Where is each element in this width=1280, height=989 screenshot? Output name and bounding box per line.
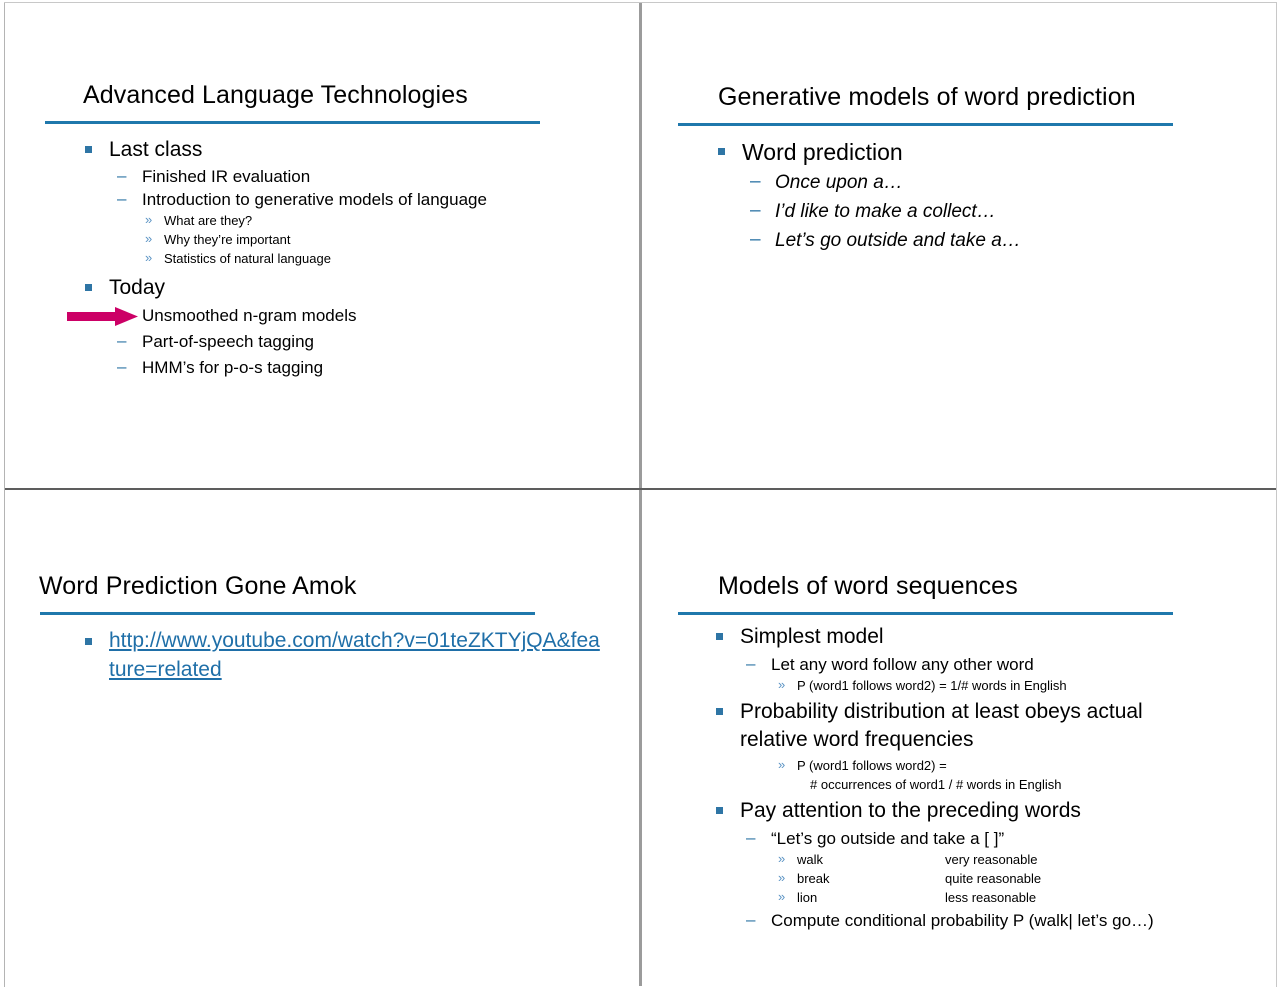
dash-bullet-icon: – [117, 164, 126, 187]
bullet-introduction-generative-models: – Introduction to generative models of l… [117, 188, 640, 211]
angle-bullet-icon: » [778, 868, 785, 887]
angle-bullet-icon: » [145, 248, 152, 267]
bullet-text: P (word1 follows word2) = [797, 758, 947, 773]
square-bullet-icon [85, 284, 92, 291]
slide-3-title-rule [40, 612, 535, 615]
bullet-text: Simplest model [740, 623, 884, 651]
bullet-lets-go-outside-take-a-blank: – “Let’s go outside and take a [ ]” [746, 827, 1276, 850]
slide-word-prediction-gone-amok[interactable]: Word Prediction Gone Amok http://www.you… [5, 491, 640, 986]
slide-2-body: Word prediction – Once upon a… – I’d lik… [642, 137, 1276, 254]
rating-cell: quite reasonable [945, 869, 1041, 888]
bullet-word-prediction: Word prediction [716, 137, 1276, 167]
bullet-pay-attention-preceding-words: Pay attention to the preceding words [714, 797, 1276, 825]
angle-bullet-icon: » [145, 229, 152, 248]
slide-1-title-rule [45, 121, 540, 124]
square-bullet-icon [716, 708, 723, 715]
square-bullet-icon [716, 807, 723, 814]
slide-generative-models-of-word-prediction[interactable]: Generative models of word prediction Wor… [642, 3, 1276, 489]
bullet-text: Part-of-speech tagging [142, 330, 314, 353]
bullet-text-group: lion less reasonable [797, 888, 1036, 907]
dash-bullet-icon: – [117, 187, 126, 210]
bullet-walk-very-reasonable: » walk very reasonable [778, 850, 1276, 869]
bullet-probability-distribution-obeys-frequencies: Probability distribution at least obeys … [714, 698, 1276, 754]
slide-grid-horizontal-divider [5, 488, 1276, 490]
word-cell: break [797, 869, 945, 888]
slide-4-body: Simplest model – Let any word follow any… [642, 623, 1276, 932]
angle-bullet-icon: » [778, 887, 785, 906]
bullet-compute-conditional-probability: – Compute conditional probability P (wal… [746, 909, 1276, 932]
angle-bullet-icon: » [145, 210, 152, 229]
bullet-text-group: P (word1 follows word2) = # occurrences … [797, 756, 1061, 794]
bullet-unsmoothed-n-gram-models: Unsmoothed n-gram models [117, 304, 640, 327]
pointer-arrow-icon [67, 307, 139, 326]
dash-bullet-icon: – [746, 826, 755, 849]
bullet-text: “Let’s go outside and take a [ ]” [771, 827, 1004, 850]
bullet-id-like-to-make-a-collect: – I’d like to make a collect… [750, 199, 1276, 225]
bullet-finished-ir-evaluation: – Finished IR evaluation [117, 165, 640, 188]
rating-cell: very reasonable [945, 850, 1038, 869]
dash-bullet-icon: – [746, 908, 755, 931]
bullet-text: Probability distribution at least obeys … [740, 698, 1170, 754]
bullet-text: P (word1 follows word2) = 1/# words in E… [797, 676, 1067, 695]
slide-grid-vertical-divider [639, 3, 642, 986]
bullet-what-are-they: » What are they? [145, 211, 640, 230]
bullet-text-continuation: # occurrences of word1 / # words in Engl… [797, 775, 1061, 794]
word-cell: walk [797, 850, 945, 869]
bullet-today: Today [83, 274, 640, 301]
bullet-text: Unsmoothed n-gram models [142, 304, 356, 327]
bullet-text: Why they’re important [164, 230, 290, 249]
dash-bullet-icon: – [750, 169, 761, 195]
dash-bullet-icon: – [117, 329, 126, 352]
bullet-let-any-word-follow: – Let any word follow any other word [746, 653, 1276, 676]
bullet-lets-go-outside-and-take-a: – Let’s go outside and take a… [750, 228, 1276, 254]
bullet-p-word1-follows-word2-uniform: » P (word1 follows word2) = 1/# words in… [778, 676, 1276, 695]
bullet-break-quite-reasonable: » break quite reasonable [778, 869, 1276, 888]
word-cell: lion [797, 888, 945, 907]
dash-bullet-icon: – [750, 227, 761, 253]
bullet-text: Last class [109, 136, 202, 163]
rating-cell: less reasonable [945, 888, 1036, 907]
bullet-text: Once upon a… [775, 170, 903, 196]
bullet-text: What are they? [164, 211, 252, 230]
slide-1-title: Advanced Language Technologies [83, 81, 468, 110]
dash-bullet-icon: – [750, 198, 761, 224]
slide-4-title: Models of word sequences [718, 572, 1018, 601]
bullet-once-upon-a: – Once upon a… [750, 170, 1276, 196]
bullet-text-group: walk very reasonable [797, 850, 1038, 869]
bullet-simplest-model: Simplest model [714, 623, 1276, 651]
handout-page: Advanced Language Technologies Last clas… [0, 0, 1280, 989]
bullet-text: I’d like to make a collect… [775, 199, 996, 225]
slide-3-body: http://www.youtube.com/watch?v=01teZKTYj… [5, 626, 640, 686]
slide-2-title: Generative models of word prediction [718, 83, 1136, 112]
slide-2-title-rule [678, 123, 1173, 126]
slide-advanced-language-technologies[interactable]: Advanced Language Technologies Last clas… [5, 3, 640, 489]
angle-bullet-icon: » [778, 755, 785, 774]
page-frame-right-rule [1276, 2, 1277, 987]
square-bullet-icon [716, 633, 723, 640]
bullet-p-word1-follows-word2-relative: » P (word1 follows word2) = # occurrence… [778, 756, 1276, 794]
bullet-text-group: break quite reasonable [797, 869, 1041, 888]
slide-4-title-rule [678, 612, 1173, 615]
bullet-lion-less-reasonable: » lion less reasonable [778, 888, 1276, 907]
bullet-text: Compute conditional probability P (walk|… [771, 909, 1154, 932]
bullet-text: Today [109, 274, 165, 301]
bullet-text: Let’s go outside and take a… [775, 228, 1021, 254]
angle-bullet-icon: » [778, 675, 785, 694]
angle-bullet-icon: » [778, 849, 785, 868]
bullet-hmms-for-pos-tagging: – HMM’s for p-o-s tagging [117, 356, 640, 379]
bullet-text: Finished IR evaluation [142, 165, 310, 188]
slide-3-title: Word Prediction Gone Amok [39, 572, 356, 601]
bullet-text: Statistics of natural language [164, 249, 331, 268]
bullet-part-of-speech-tagging: – Part-of-speech tagging [117, 330, 640, 353]
bullet-text: Let any word follow any other word [771, 653, 1034, 676]
bullet-statistics-natural-language: » Statistics of natural language [145, 249, 640, 268]
slide-1-body: Last class – Finished IR evaluation – In… [5, 136, 640, 379]
bullet-text: Word prediction [742, 137, 903, 167]
slide-models-of-word-sequences[interactable]: Models of word sequences Simplest model … [642, 491, 1276, 986]
bullet-why-theyre-important: » Why they’re important [145, 230, 640, 249]
square-bullet-icon [85, 638, 92, 645]
bullet-last-class: Last class [83, 136, 640, 163]
square-bullet-icon [718, 148, 725, 155]
bullet-youtube-link-row: http://www.youtube.com/watch?v=01teZKTYj… [83, 626, 640, 684]
dash-bullet-icon: – [117, 355, 126, 378]
square-bullet-icon [85, 146, 92, 153]
bullet-text: HMM’s for p-o-s tagging [142, 356, 323, 379]
bullet-text: Introduction to generative models of lan… [142, 188, 487, 211]
dash-bullet-icon: – [746, 652, 755, 675]
youtube-link[interactable]: http://www.youtube.com/watch?v=01teZKTYj… [109, 626, 601, 684]
bullet-text: Pay attention to the preceding words [740, 797, 1081, 825]
